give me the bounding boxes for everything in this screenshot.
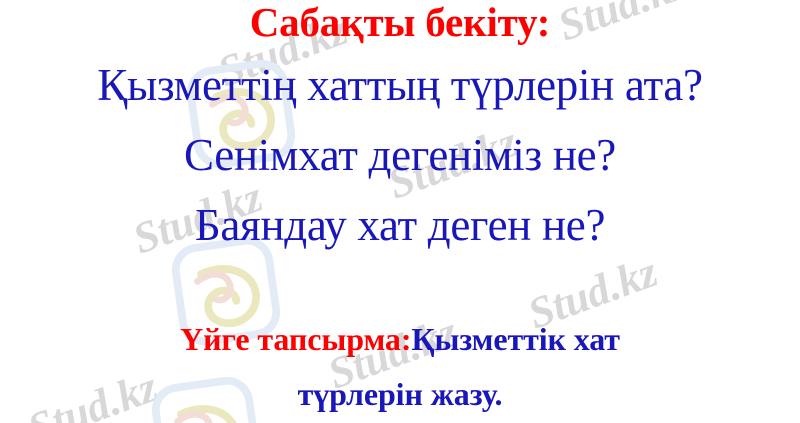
slide-title: Сабақты бекіту: xyxy=(0,2,800,43)
slide-text-content: Сабақты бекіту: Қызметтің хаттың түрлері… xyxy=(0,0,800,423)
question-line-1: Қызметтің хаттың түрлерін ата? xyxy=(0,63,800,108)
question-line-2: Сенімхат дегеніміз не? xyxy=(0,133,800,178)
homework-value-part-2: түрлерін жазу. xyxy=(298,376,503,412)
homework-value-part-1: Қызметтік хат xyxy=(411,321,620,357)
question-line-3: Баяндау хат деген не? xyxy=(0,203,800,248)
homework-line-2: түрлерін жазу. xyxy=(0,378,800,410)
homework-label: Үйге тапсырма: xyxy=(180,321,411,357)
homework-line-1: Үйге тапсырма:Қызметтік хат xyxy=(0,323,800,355)
slide-canvas: Stud.kz Stud.kz Stud.kz Stud.kz Stud.kz … xyxy=(0,0,800,423)
